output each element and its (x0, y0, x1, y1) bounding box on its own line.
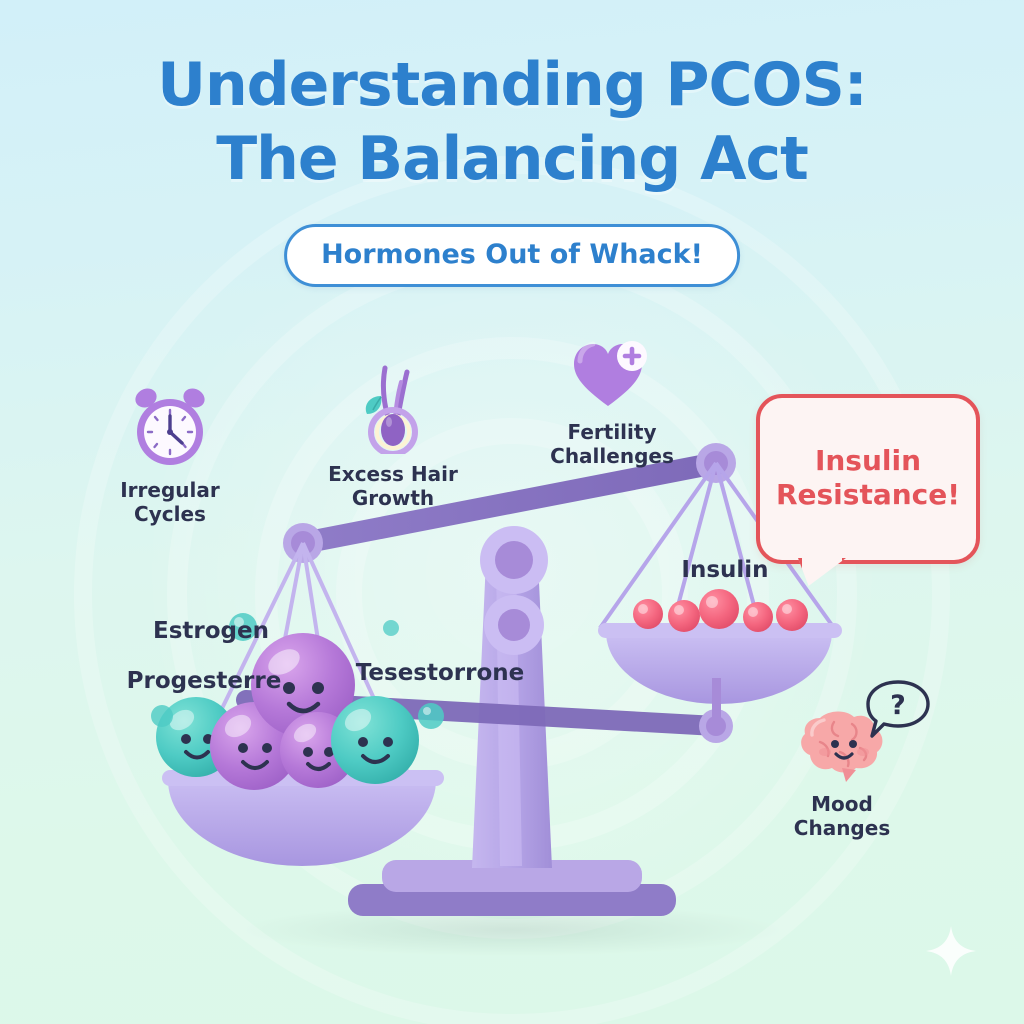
insulin-resistance-callout-text: Insulin Resistance! (776, 444, 960, 511)
hormone-label-testosterone: Tesestorrone (340, 660, 540, 687)
symptom-label-fertility-challenges: Fertility Challenges (512, 420, 712, 468)
svg-text:?: ? (890, 690, 906, 721)
infographic-canvas: Understanding PCOS: The Balancing Act Ho… (0, 0, 1024, 1024)
insulin-resistance-callout[interactable]: Insulin Resistance! (756, 394, 980, 564)
alarm-clock-icon (128, 386, 212, 470)
hormone-label-estrogen: Estrogen (126, 618, 296, 645)
scale-pivot-upper (480, 526, 548, 594)
symptom-irregular-cycles: Irregular Cycles (86, 386, 254, 526)
hormone-ball (331, 696, 419, 784)
symptom-excess-hair-growth: Excess Hair Growth (318, 362, 468, 510)
symptom-label-irregular-cycles: Irregular Cycles (86, 478, 254, 526)
symptom-label-mood-changes: Mood Changes (762, 792, 922, 840)
hair-follicle-icon (351, 362, 435, 454)
scale-pivot-lower (484, 595, 544, 655)
left-pan-hormone-balls (156, 633, 419, 790)
question-thought-bubble-icon: ? (862, 678, 934, 746)
sparkle-icon (924, 924, 978, 978)
heart-plus-icon (570, 336, 654, 412)
symptom-label-excess-hair-growth: Excess Hair Growth (318, 462, 468, 510)
hormone-label-progesterone: Progesterre (104, 668, 304, 695)
symptom-fertility-challenges: Fertility Challenges (512, 336, 712, 468)
